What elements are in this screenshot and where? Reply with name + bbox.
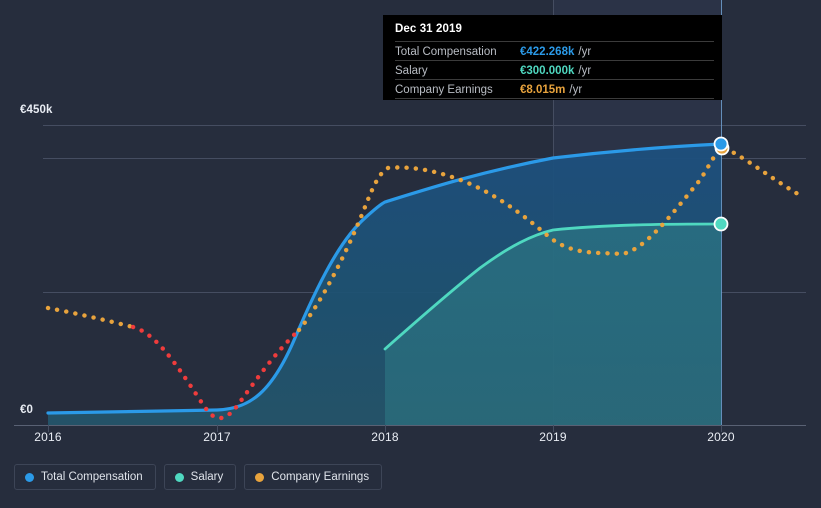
x-axis-label-2018: 2018	[371, 430, 399, 444]
tooltip-row-salary: Salary €300.000k /yr	[395, 60, 714, 79]
tooltip-label-salary: Salary	[395, 65, 520, 77]
tooltip-unit-company-earnings: /yr	[569, 84, 582, 96]
x-axis-label-2016: 2016	[34, 430, 62, 444]
tooltip-row-company-earnings: Company Earnings €8.015m /yr	[395, 79, 714, 99]
legend-dot-icon-salary	[175, 473, 184, 482]
legend-label-total-compensation: Total Compensation	[41, 471, 143, 483]
x-axis-label-2020: 2020	[707, 430, 735, 444]
tooltip-date-title: Dec 31 2019	[383, 23, 722, 41]
marker-total-compensation[interactable]	[715, 138, 728, 151]
legend-label-salary: Salary	[191, 471, 224, 483]
chart-tooltip: Dec 31 2019 Total Compensation €422.268k…	[383, 15, 722, 100]
tooltip-value-salary: €300.000k	[520, 65, 574, 77]
y-axis-label-zero: €0	[20, 404, 33, 416]
legend-item-company-earnings[interactable]: Company Earnings	[244, 464, 382, 490]
tooltip-row-total-compensation: Total Compensation €422.268k /yr	[395, 41, 714, 60]
legend-dot-icon-company-earnings	[255, 473, 264, 482]
tooltip-label-total-compensation: Total Compensation	[395, 46, 520, 58]
tooltip-unit-total-compensation: /yr	[578, 46, 591, 58]
legend-label-company-earnings: Company Earnings	[271, 471, 369, 483]
tooltip-value-total-compensation: €422.268k	[520, 46, 574, 58]
y-axis-label-max: €450k	[20, 104, 52, 116]
x-axis-label-2019: 2019	[539, 430, 567, 444]
chart-legend: Total Compensation Salary Company Earnin…	[14, 464, 382, 490]
x-axis-label-2017: 2017	[203, 430, 231, 444]
marker-salary[interactable]	[715, 218, 728, 231]
tooltip-label-company-earnings: Company Earnings	[395, 84, 520, 96]
legend-dot-icon-total-compensation	[25, 473, 34, 482]
compensation-chart-widget: €450k €0 2016 2017 2018 2019 2020 Dec 31…	[0, 0, 821, 508]
legend-item-salary[interactable]: Salary	[164, 464, 237, 490]
line-company-earnings-positive-a	[48, 308, 133, 327]
tooltip-unit-salary: /yr	[578, 65, 591, 77]
tooltip-value-company-earnings: €8.015m	[520, 84, 565, 96]
legend-item-total-compensation[interactable]: Total Compensation	[14, 464, 156, 490]
